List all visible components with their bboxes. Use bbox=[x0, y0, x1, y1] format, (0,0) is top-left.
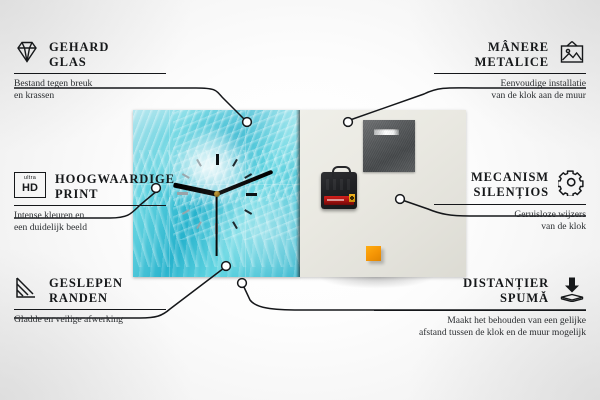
callout-header: ultra HD HOOGWAARDIGE PRINT bbox=[14, 172, 166, 202]
battery bbox=[324, 196, 354, 205]
callout-gehard-glas: GEHARD GLAS Bestand tegen breuk en krass… bbox=[14, 40, 166, 103]
callout-underline bbox=[434, 204, 586, 205]
clock-hand-hub bbox=[214, 191, 220, 197]
foam-spacer-pad bbox=[366, 246, 381, 261]
callout-description: Maakt het behouden van een gelijke afsta… bbox=[374, 315, 586, 340]
callout-header: GESLEPEN RANDEN bbox=[14, 276, 166, 306]
callout-description: Eenvoudige installatie van de klok aan d… bbox=[434, 78, 586, 103]
gear-icon bbox=[558, 170, 586, 201]
callout-title: GESLEPEN RANDEN bbox=[49, 276, 123, 306]
ultra-hd-icon-large-text: HD bbox=[15, 183, 45, 194]
connector-endpoint-distantier-spuma bbox=[238, 279, 247, 288]
callout-header: MECANISM SILENȚIOS bbox=[434, 170, 586, 201]
clock-second-hand bbox=[216, 194, 218, 256]
picture-frame-icon bbox=[558, 40, 586, 70]
callout-hoogwaardige-print: ultra HD HOOGWAARDIGE PRINT Intense kleu… bbox=[14, 172, 166, 235]
callout-description: Bestand tegen breuk en krassen bbox=[14, 78, 166, 103]
beveled-edges-icon bbox=[14, 276, 40, 305]
mechanism-embossing bbox=[326, 179, 352, 190]
callout-distantier-spuma: DISTANȚIER SPUMĂ Maakt het behouden van … bbox=[374, 276, 586, 340]
ultra-hd-icon: ultra HD bbox=[14, 172, 46, 198]
callout-title: DISTANȚIER SPUMĂ bbox=[374, 276, 549, 306]
callout-geslepen-randen: GESLEPEN RANDEN Gladde en veilige afwerk… bbox=[14, 276, 166, 326]
callout-title: MECANISM SILENȚIOS bbox=[434, 170, 549, 200]
callout-header: MÂNERE METALICE bbox=[434, 40, 586, 70]
callout-description: Geruisloze wijzers van de klok bbox=[434, 209, 586, 234]
callout-title: HOOGWAARDIGE PRINT bbox=[55, 172, 175, 202]
callout-description: Intense kleuren en een duidelijk beeld bbox=[14, 210, 166, 235]
callout-description: Gladde en veilige afwerking bbox=[14, 314, 166, 326]
callout-underline bbox=[434, 73, 586, 74]
infographic-canvas: GEHARD GLAS Bestand tegen breuk en krass… bbox=[0, 0, 600, 400]
callout-title: GEHARD GLAS bbox=[49, 40, 109, 70]
callout-header: DISTANȚIER SPUMĂ bbox=[374, 276, 586, 307]
callout-underline bbox=[374, 310, 586, 311]
diamond-icon bbox=[14, 40, 40, 69]
callout-title: MÂNERE METALICE bbox=[434, 40, 549, 70]
mechanism-hanging-loop bbox=[332, 166, 351, 177]
spacer-arrow-icon bbox=[558, 276, 586, 307]
callout-mecanism-silentios: MECANISM SILENȚIOS Geruisloze wijzers va… bbox=[434, 170, 586, 234]
ultra-hd-icon-small-text: ultra bbox=[15, 176, 45, 182]
callout-underline bbox=[14, 309, 166, 310]
product-image bbox=[133, 110, 466, 277]
callout-manere-metalice: MÂNERE METALICE Eenvoudige installatie v… bbox=[434, 40, 586, 103]
battery-plus-terminal bbox=[349, 194, 355, 202]
callout-underline bbox=[14, 205, 166, 206]
metal-hanger-plate bbox=[363, 120, 415, 172]
clock-mechanism-box bbox=[321, 172, 357, 209]
callout-header: GEHARD GLAS bbox=[14, 40, 166, 70]
hanger-keyhole-slot bbox=[374, 129, 399, 135]
callout-underline bbox=[14, 73, 166, 74]
